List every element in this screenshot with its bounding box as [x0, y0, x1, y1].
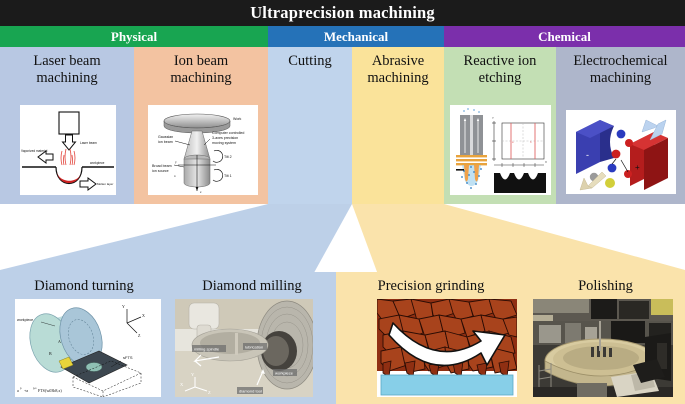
- category-band: Physical Mechanical Chemical: [0, 26, 685, 47]
- process-ion-beam-machining-label: Ion beam machining: [134, 47, 268, 87]
- page-title: Ultraprecision machining: [0, 0, 685, 26]
- connector-mechanical-to-bottom-left: [0, 204, 352, 280]
- svg-text:lubrication: lubrication: [245, 345, 263, 350]
- process-laser-beam-machining-label: Laser beam machining: [0, 47, 134, 87]
- laser-beam-machining-diagram: Laser beam workpiece Vaporized material …: [20, 105, 116, 195]
- process-reactive-ion-etching-label: Reactive ion etching: [444, 47, 556, 87]
- svg-text:ion source: ion source: [152, 169, 169, 173]
- process-electrochemical-machining-label: Electrochemical machining: [556, 47, 685, 87]
- svg-text:Broad beam: Broad beam: [152, 164, 172, 168]
- process-abrasive-machining: Abrasive machining: [352, 47, 444, 204]
- svg-text:3-axes precision: 3-axes precision: [212, 136, 238, 140]
- category-mechanical: Mechanical: [268, 26, 444, 47]
- svg-text:Vaporized material: Vaporized material: [21, 149, 48, 153]
- svg-text:Laser beam: Laser beam: [80, 141, 97, 145]
- diamond-turning-diagram: workpiece Y X Z sFTS A B: [15, 299, 161, 397]
- svg-text:X: X: [142, 313, 145, 318]
- svg-text:moving system: moving system: [212, 141, 236, 145]
- connector-abrasive-to-bottom-right: [330, 204, 685, 280]
- svg-text:A: A: [58, 339, 61, 344]
- category-chemical-label: Chemical: [538, 29, 591, 45]
- page-title-text: Ultraprecision machining: [250, 3, 435, 23]
- svg-text:Molten layer: Molten layer: [97, 182, 113, 186]
- svg-text:Tilt 1: Tilt 1: [224, 174, 232, 178]
- svg-text:-: -: [586, 150, 589, 160]
- subprocess-diamond-milling-label: Diamond milling: [168, 272, 336, 295]
- svg-text:workpiece: workpiece: [275, 371, 294, 376]
- svg-text:diamond tool: diamond tool: [239, 389, 262, 394]
- precision-grinding-diagram: [377, 299, 517, 397]
- process-abrasive-machining-label: Abrasive machining: [352, 47, 444, 87]
- svg-text:X: X: [545, 160, 547, 164]
- electrochemical-machining-diagram: - +: [566, 110, 676, 194]
- subprocess-diamond-turning-label: Diamond turning: [0, 272, 168, 295]
- category-physical-label: Physical: [111, 29, 157, 45]
- category-chemical: Chemical: [444, 26, 685, 47]
- svg-text:workpiece: workpiece: [90, 161, 105, 165]
- svg-text:a: a: [17, 388, 19, 393]
- ultraprecision-machining-taxonomy-figure: Ultraprecision machining Physical Mechan…: [0, 0, 685, 404]
- svg-text:ion beam: ion beam: [158, 140, 173, 144]
- svg-text:sFTS: sFTS: [123, 355, 133, 360]
- svg-text:Y: Y: [122, 304, 125, 309]
- process-cutting: Cutting: [268, 47, 352, 204]
- reactive-ion-etching-diagram: Y a b X: [450, 105, 551, 195]
- svg-text:milling spindle: milling spindle: [194, 347, 220, 352]
- ion-beam-machining-diagram: Work y x z Gaussian ion beam Computer co…: [148, 105, 258, 195]
- svg-text:Gaussian: Gaussian: [158, 135, 173, 139]
- category-mechanical-label: Mechanical: [324, 29, 388, 45]
- subprocess-polishing-label: Polishing: [526, 272, 685, 295]
- polishing-machine-photo: [533, 299, 673, 397]
- svg-text:Work: Work: [233, 117, 242, 121]
- diamond-milling-photo: milling spindle lubrication workpiece di…: [175, 299, 313, 397]
- category-physical: Physical: [0, 26, 268, 47]
- subprocess-precision-grinding-label: Precision grinding: [336, 272, 526, 295]
- svg-text:y: y: [175, 160, 177, 164]
- svg-text:x: x: [174, 174, 176, 178]
- svg-text:Y: Y: [492, 116, 494, 120]
- svg-text:+a: +a: [24, 388, 28, 393]
- svg-text:+: +: [635, 163, 640, 172]
- svg-text:B: B: [49, 351, 52, 356]
- svg-text:Z: Z: [208, 390, 211, 395]
- svg-text:Computer controlled: Computer controlled: [212, 131, 244, 135]
- svg-text:Tilt 2: Tilt 2: [224, 155, 232, 159]
- svg-text:workpiece: workpiece: [17, 318, 33, 322]
- process-cutting-label: Cutting: [268, 47, 352, 70]
